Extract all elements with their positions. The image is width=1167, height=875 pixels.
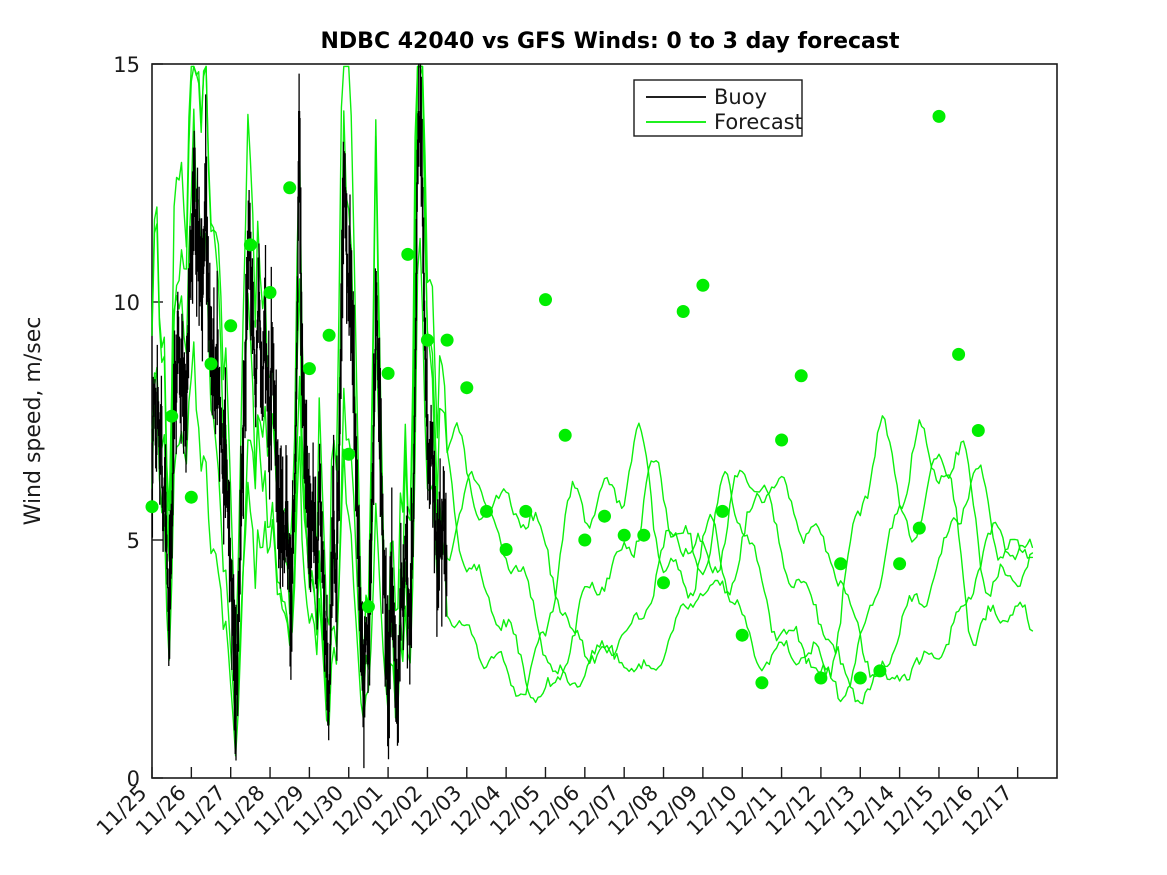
forecast-marker-dot bbox=[913, 522, 926, 535]
forecast-marker-dot bbox=[736, 629, 749, 642]
forecast-marker-dot bbox=[972, 424, 985, 437]
forecast-marker-dot bbox=[814, 672, 827, 685]
forecast-marker-dot bbox=[165, 410, 178, 423]
forecast-marker-dot bbox=[244, 238, 257, 251]
forecast-marker-dot bbox=[657, 576, 670, 589]
y-axis-title: Wind speed, m/sec bbox=[21, 317, 46, 526]
forecast-run-line bbox=[152, 66, 1032, 725]
forecast-marker-dot bbox=[578, 534, 591, 547]
forecast-marker-dot bbox=[893, 557, 906, 570]
forecast-marker-dot bbox=[775, 434, 788, 447]
forecast-marker-dot bbox=[480, 505, 493, 518]
forecast-marker-dot bbox=[716, 505, 729, 518]
forecast-marker-dot bbox=[323, 329, 336, 342]
page-title: NDBC 42040 vs GFS Winds: 0 to 3 day fore… bbox=[321, 29, 900, 54]
y-tick-label: 15 bbox=[113, 53, 140, 77]
forecast-marker-dot bbox=[421, 334, 434, 347]
legend-label-forecast: Forecast bbox=[714, 110, 803, 134]
forecast-marker-dot bbox=[696, 279, 709, 292]
forecast-marker-dot bbox=[401, 248, 414, 261]
forecast-marker-dot bbox=[952, 348, 965, 361]
forecast-marker-dot bbox=[854, 672, 867, 685]
forecast-marker-dot bbox=[834, 557, 847, 570]
y-tick-label: 10 bbox=[113, 291, 140, 315]
forecast-marker-dot bbox=[264, 286, 277, 299]
forecast-marker-dot bbox=[460, 381, 473, 394]
forecast-marker-dot bbox=[441, 334, 454, 347]
forecast-marker-dot bbox=[677, 305, 690, 318]
legend[interactable]: Buoy Forecast bbox=[634, 80, 803, 136]
forecast-marker-dot bbox=[755, 676, 768, 689]
forecast-marker-dot bbox=[303, 362, 316, 375]
forecast-marker-dot bbox=[637, 529, 650, 542]
forecast-marker-dot bbox=[500, 543, 513, 556]
forecast-marker-dot bbox=[559, 429, 572, 442]
forecast-marker-dot bbox=[205, 357, 218, 370]
figure-container: NDBC 42040 vs GFS Winds: 0 to 3 day fore… bbox=[0, 0, 1167, 875]
forecast-marker-dot bbox=[342, 448, 355, 461]
forecast-marker-dot bbox=[224, 319, 237, 332]
forecast-marker-dot bbox=[185, 491, 198, 504]
forecast-marker-dot bbox=[618, 529, 631, 542]
forecast-series-lines bbox=[152, 66, 1032, 755]
forecast-marker-dot bbox=[795, 369, 808, 382]
plot-frame bbox=[152, 64, 1057, 778]
y-tick-label: 5 bbox=[127, 529, 140, 553]
forecast-run-line bbox=[152, 66, 1032, 720]
forecast-marker-dot bbox=[146, 500, 159, 513]
forecast-marker-dot bbox=[283, 181, 296, 194]
forecast-marker-dot bbox=[598, 510, 611, 523]
forecast-marker-dot bbox=[382, 367, 395, 380]
forecast-marker-dot bbox=[873, 664, 886, 677]
buoy-series-line bbox=[152, 64, 447, 768]
forecast-marker-dot bbox=[933, 110, 946, 123]
forecast-marker-dot bbox=[539, 293, 552, 306]
wind-speed-chart: NDBC 42040 vs GFS Winds: 0 to 3 day fore… bbox=[0, 0, 1167, 875]
legend-label-buoy: Buoy bbox=[714, 85, 767, 109]
forecast-marker-dot bbox=[362, 600, 375, 613]
forecast-marker-dot bbox=[519, 505, 532, 518]
